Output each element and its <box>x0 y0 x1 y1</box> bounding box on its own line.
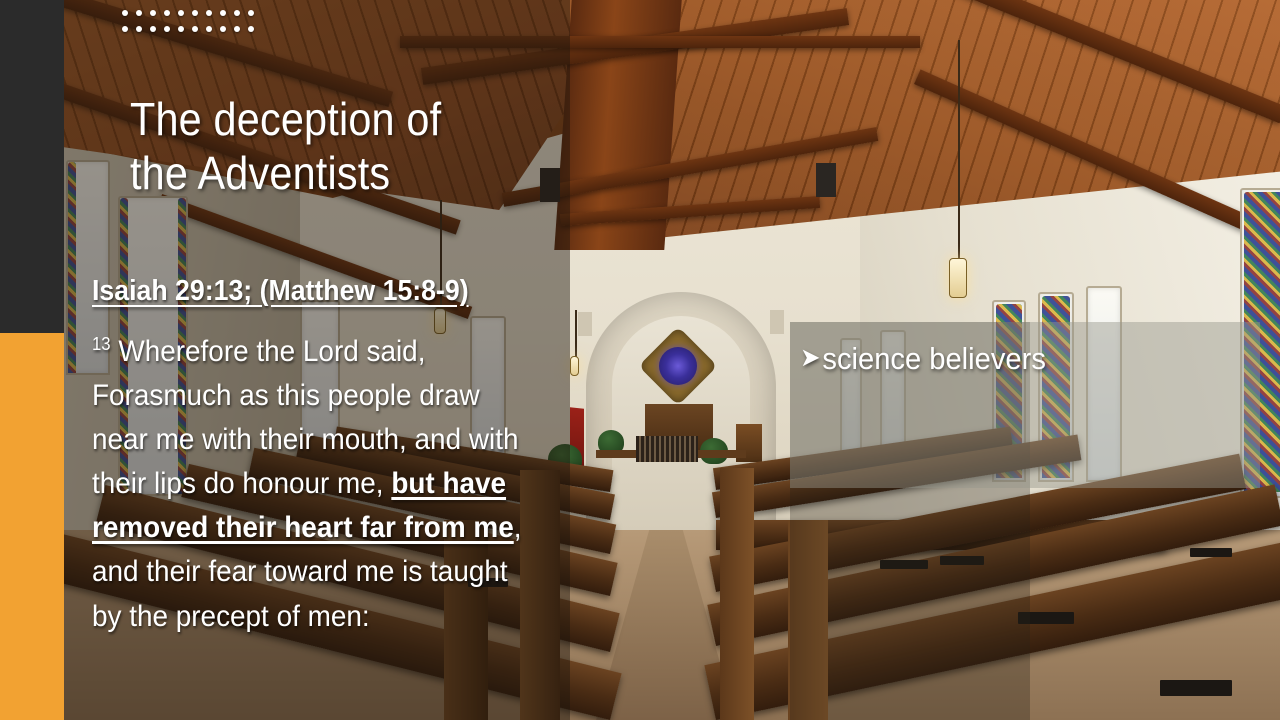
pendant-lamp <box>949 258 967 298</box>
wall-speaker <box>770 310 784 334</box>
pendant-lamp <box>570 356 579 376</box>
lamp-cord <box>575 310 577 358</box>
lamp-cord <box>958 40 960 260</box>
decorative-dot <box>234 10 240 16</box>
decorative-dot <box>206 26 212 32</box>
decorative-dot <box>164 26 170 32</box>
scripture-reference: Isaiah 29:13; (Matthew 15:8-9) <box>92 276 570 308</box>
decorative-dot <box>192 10 198 16</box>
slide-title-line-1: The deception of <box>130 92 508 146</box>
decorative-dot <box>248 26 254 32</box>
presentation-slide: The deception of the Adventists Isaiah 2… <box>0 0 1280 720</box>
sidebar-accent-orange <box>0 333 64 720</box>
decorative-dot <box>150 26 156 32</box>
decorative-dot <box>122 26 128 32</box>
bullet-item-label: science believers <box>822 340 1046 377</box>
wall-speaker <box>578 312 592 336</box>
decorative-dot <box>136 26 142 32</box>
scripture-verse-text: 13 Wherefore the Lord said, Forasmuch as… <box>92 330 529 639</box>
hymnal <box>1160 680 1232 696</box>
decorative-dot <box>150 10 156 16</box>
hymnal <box>1190 548 1232 557</box>
decorative-dot <box>234 26 240 32</box>
decorative-dot <box>192 26 198 32</box>
sidebar-accent-dark <box>0 0 64 333</box>
slide-title: The deception of the Adventists <box>130 92 508 201</box>
decorative-dot <box>178 10 184 16</box>
organ-pipes <box>636 436 698 462</box>
rose-window-stained-glass <box>659 347 697 385</box>
decorative-dot <box>136 10 142 16</box>
decorative-dot <box>220 26 226 32</box>
bullet-list-item: ➤ science believers <box>800 340 1046 377</box>
decorative-dot <box>248 10 254 16</box>
verse-number: 13 <box>92 334 111 354</box>
slide-title-line-2: the Adventists <box>130 146 508 200</box>
decorative-dot <box>122 10 128 16</box>
dot-grid-decoration <box>122 10 262 42</box>
decorative-dot <box>178 26 184 32</box>
wall-speaker <box>816 163 836 197</box>
decorative-dot <box>164 10 170 16</box>
decorative-dot <box>220 10 226 16</box>
decorative-dot <box>206 10 212 16</box>
arrow-bullet-icon: ➤ <box>800 340 820 375</box>
pew-end-cap <box>720 468 754 720</box>
